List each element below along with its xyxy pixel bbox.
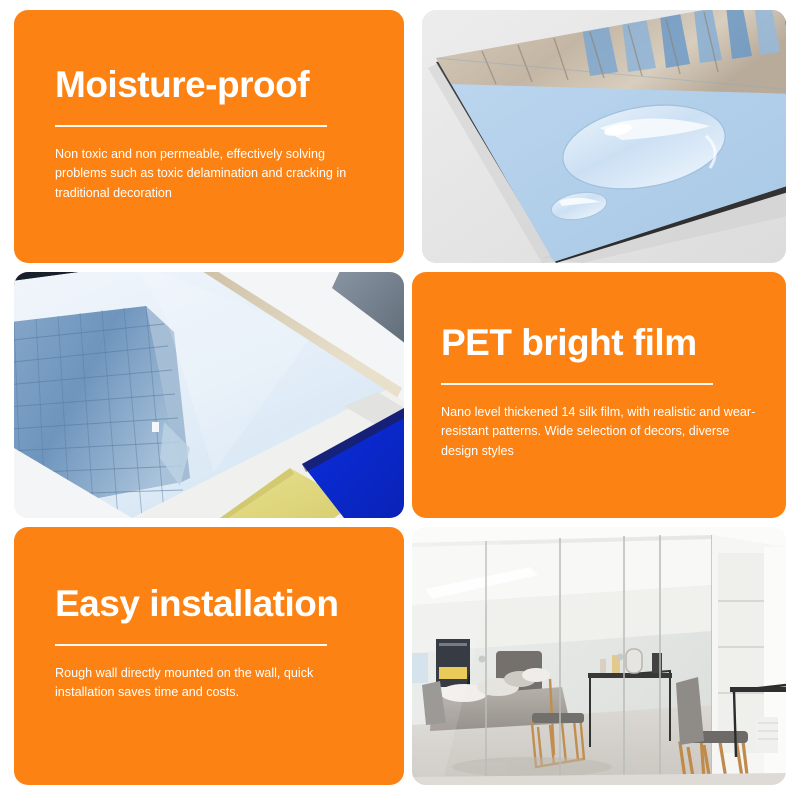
bedroom-interior-illustration [412,527,786,785]
feature-description: Rough wall directly mounted on the wall,… [55,664,374,703]
card-content: Moisture-proof Non toxic and non permeab… [55,66,374,203]
photo-water-droplet-panel [422,10,786,263]
title-divider [55,644,327,646]
title-divider [441,383,713,385]
feature-grid: Moisture-proof Non toxic and non permeab… [0,0,800,800]
feature-title: PET bright film [441,324,756,363]
feature-title: Moisture-proof [55,66,374,105]
feature-title: Easy installation [55,585,374,624]
photo-colored-panels [14,272,404,518]
feature-card-pet-bright-film: PET bright film Nano level thickened 14 … [412,272,786,518]
colored-panels-illustration [14,272,404,518]
feature-description: Nano level thickened 14 silk film, with … [441,403,756,462]
card-content: Easy installation Rough wall directly mo… [55,585,374,703]
feature-card-moisture-proof: Moisture-proof Non toxic and non permeab… [14,10,404,263]
photo-mirrored-wardrobe-room [412,527,786,785]
water-droplet-illustration [422,10,786,263]
feature-card-easy-installation: Easy installation Rough wall directly mo… [14,527,404,785]
feature-description: Non toxic and non permeable, effectively… [55,145,374,204]
card-content: PET bright film Nano level thickened 14 … [441,324,756,461]
title-divider [55,125,327,127]
